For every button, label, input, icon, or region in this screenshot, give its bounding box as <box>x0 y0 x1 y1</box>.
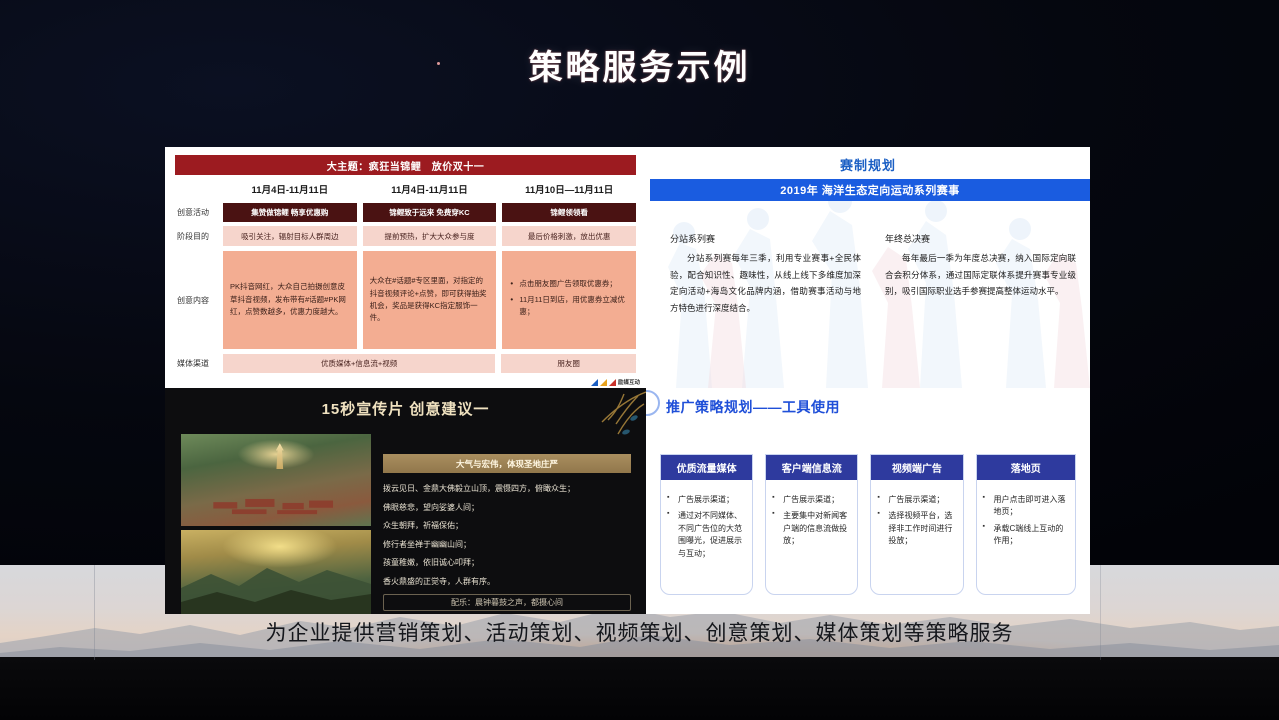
race-panel-title: 赛制规划 <box>646 155 1090 174</box>
media-cell: 优质媒体+信息流+视频 <box>223 354 495 373</box>
tools-panel-title: 推广策略规划——工具使用 <box>666 397 840 417</box>
goal-cell: 最后价格刺激，放出优惠 <box>502 226 636 246</box>
tool-bullet: 广告展示渠道； <box>876 494 955 506</box>
tool-bullet: 选择视频平台，选择非工作时间进行投放； <box>876 510 955 547</box>
activity-cell: 锦鲤领领看 <box>502 203 636 222</box>
activity-cell: 锦鲤致于远来 免费穿KC <box>363 203 497 222</box>
decorative-arc-icon <box>646 390 660 416</box>
tool-card-video-ads[interactable]: 视频端广告 广告展示渠道； 选择视频平台，选择非工作时间进行投放； <box>870 454 963 595</box>
content-bullet: 11月11日到店，用优惠券立减优惠； <box>509 294 629 319</box>
tool-bullet: 通过对不同媒体、不同广告位的大范围曝光，促进展示与互动； <box>666 510 745 560</box>
title-decoration-dot <box>437 62 440 65</box>
race-column-body: 分站系列赛每年三季，利用专业赛事+全民体验，配合知识性、趣味性，从线上线下多维度… <box>670 250 861 316</box>
slide-deck: 大主题：疯狂当锦鲤 放价双十一 11月4日-11月11日 11月4日-11月11… <box>165 147 1090 614</box>
mountain-sunset-photo <box>181 530 371 614</box>
campaign-plan-panel: 大主题：疯狂当锦鲤 放价双十一 11月4日-11月11日 11月4日-11月11… <box>165 147 646 388</box>
content-bullet: 点击朋友圈广告领取优惠券； <box>509 278 629 290</box>
date-cell: 11月4日-11月11日 <box>223 175 357 203</box>
race-column: 年终总决赛 每年最后一季为年度总决赛，纳入国际定向联合会积分体系，通过国际定联体… <box>885 232 1076 316</box>
video-script-line: 修行者坐禅于幽幽山间； <box>383 540 635 550</box>
content-cell: PK抖音网红，大众自己拍摄创意皮草抖音视频，发布带有#话题#PK网红，点赞数越多… <box>223 251 357 349</box>
tool-card-title: 视频端广告 <box>871 455 962 480</box>
row-label-activity: 创意活动 <box>175 203 223 222</box>
race-column-heading: 分站系列赛 <box>670 232 861 245</box>
video-panel-title: 15秒宣传片 创意建议一 <box>165 398 646 419</box>
race-column-heading: 年终总决赛 <box>885 232 1076 245</box>
video-script-line: 孩童稚嫩，依旧诚心叩拜； <box>383 558 635 568</box>
goal-cell: 提前预热，扩大大众参与度 <box>363 226 497 246</box>
tool-card-premium-media[interactable]: 优质流量媒体 广告展示渠道； 通过对不同媒体、不同广告位的大范围曝光，促进展示与… <box>660 454 753 595</box>
tool-card-title: 优质流量媒体 <box>661 455 752 480</box>
goal-cell: 吸引关注，辐射目标人群周边 <box>223 226 357 246</box>
row-label-empty <box>175 175 223 203</box>
tool-bullet: 用户点击即可进入落地页； <box>982 494 1068 519</box>
row-label-media: 媒体渠道 <box>175 354 223 373</box>
video-script-line: 众生朝拜，祈福保佑； <box>383 521 635 531</box>
race-event-banner: 2019年 海洋生态定向运动系列赛事 <box>650 179 1090 201</box>
tool-bullet: 广告展示渠道； <box>771 494 850 506</box>
footer-caption: 为企业提供营销策划、活动策划、视频策划、创意策划、媒体策划等策略服务 <box>0 617 1279 647</box>
table-row-content: 创意内容 PK抖音网红，大众自己拍摄创意皮草抖音视频，发布带有#话题#PK网红，… <box>175 251 636 349</box>
tool-card-title: 客户端信息流 <box>766 455 857 480</box>
campaign-table: 11月4日-11月11日 11月4日-11月11日 11月10日—11月11日 … <box>175 175 636 373</box>
video-creative-panel: 15秒宣传片 创意建议一 大气与宏伟，体现圣地庄严 拨云见日、金鼎大佛毅立山顶，… <box>165 388 646 614</box>
temple-roofs-shape <box>208 491 341 515</box>
tool-card-client-feed[interactable]: 客户端信息流 广告展示渠道； 主要集中对新闻客户端的信息流做投放； <box>765 454 858 595</box>
table-row-dates: 11月4日-11月11日 11月4日-11月11日 11月10日—11月11日 <box>175 175 636 203</box>
tool-bullet: 广告展示渠道； <box>666 494 745 506</box>
media-cell: 朋友圈 <box>501 354 636 373</box>
video-script-line: 佛眼慈悲，望向娑婆人间； <box>383 503 635 513</box>
tool-bullet: 主要集中对新闻客户端的信息流做投放； <box>771 510 850 547</box>
video-script-line: 拨云见日、金鼎大佛毅立山顶，震慑四方，俯瞰众生； <box>383 484 635 494</box>
logo-triangle-yellow-icon <box>600 379 607 386</box>
tool-card-title: 落地页 <box>977 455 1075 480</box>
company-logo: 励媒互动 <box>591 378 640 386</box>
table-row-goal: 阶段目的 吸引关注，辐射目标人群周边 提前预热，扩大大众参与度 最后价格刺激，放… <box>175 226 636 246</box>
logo-text: 励媒互动 <box>618 378 640 386</box>
temple-aerial-photo <box>181 434 371 526</box>
race-plan-panel: 赛制规划 2019年 海洋生态定向运动系列赛事 分站系列赛 分站系列赛每年三季，… <box>646 147 1090 388</box>
table-row-media: 媒体渠道 优质媒体+信息流+视频 朋友圈 <box>175 354 636 373</box>
tool-card-body: 广告展示渠道； 通过对不同媒体、不同广告位的大范围曝光，促进展示与互动； <box>661 480 752 572</box>
campaign-banner: 大主题：疯狂当锦鲤 放价双十一 <box>175 155 636 175</box>
date-cell: 11月10日—11月11日 <box>502 175 636 203</box>
race-column-body: 每年最后一季为年度总决赛，纳入国际定向联合会积分体系，通过国际定联体系提升赛事专… <box>885 250 1076 300</box>
row-label-content: 创意内容 <box>175 251 223 349</box>
content-cell-bullets: 点击朋友圈广告领取优惠券； 11月11日到店，用优惠券立减优惠； <box>502 251 636 349</box>
logo-triangle-blue-icon <box>591 379 598 386</box>
tool-card-body: 广告展示渠道； 选择视频平台，选择非工作时间进行投放； <box>871 480 962 560</box>
race-column: 分站系列赛 分站系列赛每年三季，利用专业赛事+全民体验，配合知识性、趣味性，从线… <box>670 232 861 316</box>
page-title: 策略服务示例 <box>0 40 1279 89</box>
tool-bullet: 承载C端线上互动的作用； <box>982 523 1068 548</box>
tool-card-body: 广告展示渠道； 主要集中对新闻客户端的信息流做投放； <box>766 480 857 560</box>
content-cell: 大众在#话题#专区里面，对指定的抖音视频评论+点赞，即可获得抽奖机会，奖品是获得… <box>363 251 497 349</box>
branch-decoration-icon <box>576 388 646 450</box>
video-caption-banner: 大气与宏伟，体现圣地庄严 <box>383 454 631 473</box>
promotion-tools-panel: 推广策略规划——工具使用 优质流量媒体 广告展示渠道； 通过对不同媒体、不同广告… <box>646 388 1090 614</box>
video-script-lines: 拨云见日、金鼎大佛毅立山顶，震慑四方，俯瞰众生； 佛眼慈悲，望向娑婆人间； 众生… <box>383 484 635 596</box>
race-columns: 分站系列赛 分站系列赛每年三季，利用专业赛事+全民体验，配合知识性、趣味性，从线… <box>670 232 1076 316</box>
video-music-note: 配乐：晨钟暮鼓之声，都摄心间 <box>383 594 631 611</box>
tool-card-body: 用户点击即可进入落地页； 承载C端线上互动的作用； <box>977 480 1075 560</box>
date-cell: 11月4日-11月11日 <box>363 175 497 203</box>
background-bottom-dark <box>0 657 1279 720</box>
mountain-sunset-shape <box>181 530 371 614</box>
table-row-activity: 创意活动 集赞做锦鲤 畅享优惠购 锦鲤致于远来 免费穿KC 锦鲤领领看 <box>175 203 636 222</box>
logo-triangle-red-icon <box>609 379 616 386</box>
activity-cell: 集赞做锦鲤 畅享优惠购 <box>223 203 357 222</box>
video-script-line: 香火鼎盛的正觉寺，人群有序。 <box>383 577 635 587</box>
tool-cards-row: 优质流量媒体 广告展示渠道； 通过对不同媒体、不同广告位的大范围曝光，促进展示与… <box>660 454 1076 595</box>
row-label-goal: 阶段目的 <box>175 226 223 246</box>
tool-card-landing-page[interactable]: 落地页 用户点击即可进入落地页； 承载C端线上互动的作用； <box>976 454 1076 595</box>
pagoda-shape-icon <box>276 443 284 469</box>
